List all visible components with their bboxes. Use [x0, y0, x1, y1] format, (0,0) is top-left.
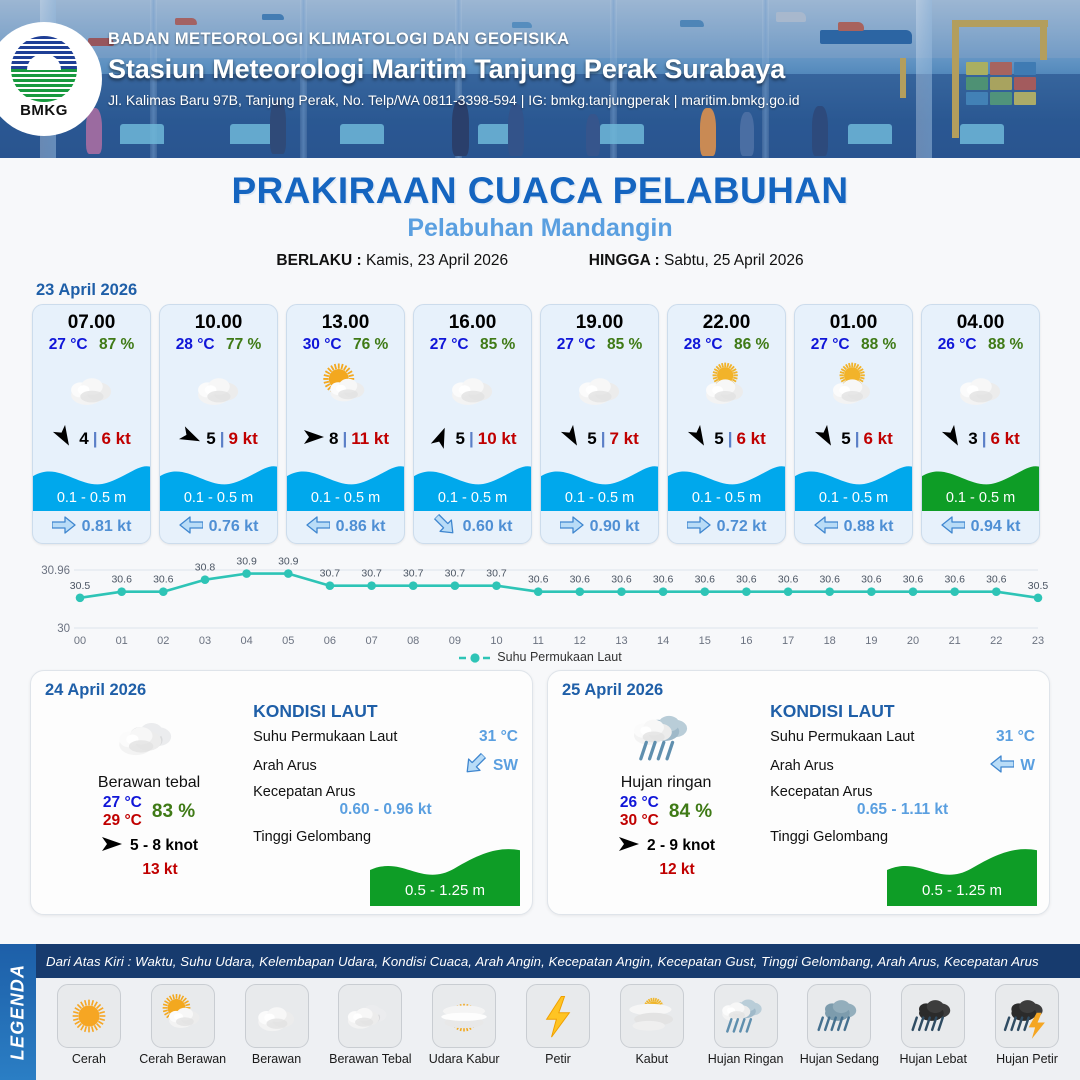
card-wind: 5 | 6 kt [795, 419, 912, 459]
svg-text:13: 13 [615, 635, 627, 647]
card-wave: 0.1 - 0.5 m [795, 459, 912, 511]
legend-icon-tile [995, 984, 1059, 1048]
validity-line: BERLAKU : Kamis, 23 April 2026 HINGGA : … [0, 252, 1080, 270]
current-direction-icon [941, 516, 965, 539]
card-wind: 5 | 10 kt [414, 419, 531, 459]
card-weather-icon [922, 357, 1039, 419]
current-speed: 0.72 kt [717, 518, 767, 536]
card-temp-humidity: 26 °C 88 % [922, 336, 1039, 357]
card-wind: 5 | 7 kt [541, 419, 658, 459]
wind-gust: 6 kt [736, 429, 765, 449]
sea-row: Arah Arus W [770, 755, 1035, 777]
daily-card: 24 April 2026 Berawan tebal 27 °C 29 °C [30, 670, 533, 915]
svg-text:30.6: 30.6 [986, 574, 1007, 586]
sea-row-label: Tinggi Gelombang [253, 829, 371, 845]
wind-gust: 6 kt [101, 429, 130, 449]
current-direction-icon [990, 755, 1014, 777]
seat-decoration [848, 124, 892, 144]
sea-row-label: Suhu Permukaan Laut [253, 729, 397, 745]
daily-humidity: 84 % [669, 801, 712, 823]
daily-condition: Berawan tebal [45, 774, 253, 792]
legend-item: Hujan Ringan [699, 984, 793, 1066]
legend-icon-tile [526, 984, 590, 1048]
svg-text:09: 09 [449, 635, 461, 647]
station-name: Stasiun Meteorologi Maritim Tanjung Pera… [108, 54, 800, 85]
current-direction-icon [52, 516, 76, 539]
wind-speed: 5 [714, 429, 723, 449]
wind-separator: | [93, 429, 98, 449]
svg-text:30.6: 30.6 [528, 574, 549, 586]
current-direction-icon [179, 516, 203, 539]
current-direction-icon [306, 516, 330, 539]
legend-label: Suhu Permukaan Laut [497, 650, 621, 664]
svg-text:06: 06 [324, 635, 336, 647]
legend-item-label: Cerah [42, 1052, 136, 1066]
current-direction-label: W [1020, 757, 1035, 775]
sea-row-label: Tinggi Gelombang [770, 829, 888, 845]
svg-text:30.7: 30.7 [445, 568, 466, 580]
wind-separator: | [342, 429, 347, 449]
card-temp-humidity: 27 °C 88 % [795, 336, 912, 357]
card-current: 0.94 kt [922, 511, 1039, 543]
current-speed: 0.81 kt [82, 518, 132, 536]
wind-gust: 11 kt [351, 429, 389, 449]
svg-text:30.7: 30.7 [403, 568, 424, 580]
wind-separator: | [220, 429, 225, 449]
sea-conditions-heading: KONDISI LAUT [770, 701, 1035, 722]
card-humidity: 77 % [226, 336, 261, 353]
daily-temp-high: 30 °C [620, 812, 659, 830]
wind-gust: 9 kt [228, 429, 257, 449]
wave-height: 0.1 - 0.5 m [33, 490, 150, 506]
hourly-forecast-row: 07.00 27 °C 87 % 4 | 6 kt 0.1 - 0.5 m [0, 304, 1080, 544]
daily-weather-icon [562, 702, 770, 774]
hourly-card: 04.00 26 °C 88 % 3 | 6 kt 0.1 - 0.5 m [921, 304, 1040, 544]
seat-decoration [600, 124, 644, 144]
agency-name: BADAN METEOROLOGI KLIMATOLOGI DAN GEOFIS… [108, 30, 800, 49]
svg-text:30.6: 30.6 [819, 574, 840, 586]
hourly-card: 13.00 30 °C 76 % 8 | 11 kt 0.1 - 0.5 m [286, 304, 405, 544]
sea-row: Kecepatan Arus 0.65 - 1.11 kt [770, 784, 1035, 819]
card-wind: 5 | 6 kt [668, 419, 785, 459]
svg-text:01: 01 [116, 635, 128, 647]
daily-wave-height: 0.5 - 1.25 m [887, 882, 1037, 899]
valid-from-label: BERLAKU : [276, 252, 361, 269]
sst-chart-legend: Suhu Permukaan Laut [0, 650, 1080, 664]
legend-tab-label: LEGENDA [8, 964, 29, 1060]
card-weather-icon [541, 357, 658, 419]
wind-gust: 6 kt [863, 429, 892, 449]
sea-row-value: 31 °C [479, 728, 518, 746]
sea-row-label: Kecepatan Arus [770, 784, 1035, 800]
card-humidity: 88 % [988, 336, 1023, 353]
wind-direction-icon [179, 426, 203, 453]
legend-icon-tile [807, 984, 871, 1048]
sea-row: Suhu Permukaan Laut 31 °C [770, 726, 1035, 748]
svg-text:30.6: 30.6 [861, 574, 882, 586]
svg-text:30.96: 30.96 [41, 565, 70, 577]
legend-icon-tile [432, 984, 496, 1048]
card-time: 16.00 [414, 305, 531, 336]
logo-label: BMKG [5, 102, 83, 119]
seat-decoration [120, 124, 164, 144]
daily-temp-low: 26 °C [620, 794, 659, 812]
wind-separator: | [469, 429, 474, 449]
card-wave: 0.1 - 0.5 m [668, 459, 785, 511]
card-time: 07.00 [33, 305, 150, 336]
current-direction-icon [463, 755, 487, 777]
card-wind: 5 | 9 kt [160, 419, 277, 459]
wave-height: 0.1 - 0.5 m [795, 490, 912, 506]
sea-row: Arah Arus SW [253, 755, 518, 777]
legend-item-label: Petir [511, 1052, 605, 1066]
wind-direction-icon [617, 833, 641, 860]
sea-row-value: 0.60 - 0.96 kt [253, 801, 518, 819]
card-wave: 0.1 - 0.5 m [33, 459, 150, 511]
card-weather-icon [414, 357, 531, 419]
svg-text:07: 07 [365, 635, 377, 647]
wave-height: 0.1 - 0.5 m [541, 490, 658, 506]
card-humidity: 85 % [480, 336, 515, 353]
wind-speed: 3 [968, 429, 977, 449]
wind-gust: 6 kt [990, 429, 1019, 449]
legend-item: Udara Kabur [417, 984, 511, 1066]
card-temp: 28 °C [176, 336, 215, 353]
daily-forecast-row: 24 April 2026 Berawan tebal 27 °C 29 °C [0, 664, 1080, 915]
sea-row-value: 31 °C [996, 728, 1035, 746]
svg-text:30.7: 30.7 [486, 568, 507, 580]
legend-item-label: Hujan Ringan [699, 1052, 793, 1066]
legend-item: Berawan [230, 984, 324, 1066]
sst-chart-plot: 30.963030.50030.60130.60230.80330.90430.… [28, 552, 1052, 648]
legend-item: Petir [511, 984, 605, 1066]
svg-text:18: 18 [824, 635, 836, 647]
wave-height: 0.1 - 0.5 m [922, 490, 1039, 506]
wind-speed: 5 [206, 429, 215, 449]
card-temp-humidity: 27 °C 87 % [33, 336, 150, 357]
wind-speed: 5 [456, 429, 465, 449]
current-speed: 0.76 kt [209, 518, 259, 536]
current-direction-icon [560, 516, 584, 539]
page-header: BMKG BADAN METEOROLOGI KLIMATOLOGI DAN G… [0, 0, 1080, 158]
legend-marker-icon [458, 652, 492, 664]
card-time: 13.00 [287, 305, 404, 336]
card-wave: 0.1 - 0.5 m [541, 459, 658, 511]
svg-text:30.7: 30.7 [361, 568, 382, 580]
legend-item-label: Hujan Petir [980, 1052, 1074, 1066]
card-wave: 0.1 - 0.5 m [414, 459, 531, 511]
legend-item: Hujan Lebat [886, 984, 980, 1066]
card-temp: 27 °C [557, 336, 596, 353]
person-decoration [586, 114, 600, 156]
svg-text:30.6: 30.6 [111, 574, 132, 586]
svg-text:11: 11 [532, 635, 543, 647]
wave-height: 0.1 - 0.5 m [287, 490, 404, 506]
card-time: 01.00 [795, 305, 912, 336]
daily-date: 25 April 2026 [562, 681, 770, 700]
card-time: 19.00 [541, 305, 658, 336]
card-weather-icon [33, 357, 150, 419]
sea-row-value: W [990, 755, 1035, 777]
card-wave: 0.1 - 0.5 m [287, 459, 404, 511]
current-speed: 0.90 kt [590, 518, 640, 536]
wind-speed: 5 [587, 429, 596, 449]
card-humidity: 76 % [353, 336, 388, 353]
card-humidity: 88 % [861, 336, 896, 353]
card-temp: 30 °C [303, 336, 342, 353]
wind-separator: | [855, 429, 860, 449]
wave-height: 0.1 - 0.5 m [414, 490, 531, 506]
wind-direction-icon [941, 426, 965, 453]
card-temp: 27 °C [49, 336, 88, 353]
legend-items: Cerah Cerah Berawan Berawan [36, 978, 1080, 1066]
svg-text:14: 14 [657, 635, 669, 647]
sea-conditions-heading: KONDISI LAUT [253, 701, 518, 722]
legend-note: Dari Atas Kiri : Waktu, Suhu Udara, Kele… [36, 944, 1080, 978]
svg-text:17: 17 [782, 635, 794, 647]
current-speed: 0.88 kt [844, 518, 894, 536]
card-wave: 0.1 - 0.5 m [922, 459, 1039, 511]
legend-item-label: Berawan Tebal [323, 1052, 417, 1066]
person-decoration [700, 108, 716, 156]
wind-gust: 10 kt [478, 429, 517, 449]
sea-row-label: Arah Arus [770, 758, 834, 774]
legend-item-label: Udara Kabur [417, 1052, 511, 1066]
card-current: 0.88 kt [795, 511, 912, 543]
daily-wave-height: 0.5 - 1.25 m [370, 882, 520, 899]
legend-icon-tile [245, 984, 309, 1048]
wind-gust: 7 kt [609, 429, 638, 449]
svg-text:22: 22 [990, 635, 1002, 647]
card-weather-icon [160, 357, 277, 419]
card-humidity: 85 % [607, 336, 642, 353]
card-temp: 27 °C [811, 336, 850, 353]
wind-speed: 4 [79, 429, 88, 449]
daily-temp-low: 27 °C [103, 794, 142, 812]
daily-date: 24 April 2026 [45, 681, 253, 700]
svg-text:21: 21 [949, 635, 961, 647]
svg-text:00: 00 [74, 635, 86, 647]
current-direction-label: SW [493, 757, 518, 775]
sea-row-label: Arah Arus [253, 758, 317, 774]
card-wind: 4 | 6 kt [33, 419, 150, 459]
daily-temps: 27 °C 29 °C 83 % [45, 794, 253, 830]
wind-direction-icon [100, 833, 124, 860]
daily-wind-range: 5 - 8 knot [130, 837, 198, 855]
daily-card: 25 April 2026 Hujan ringan 26 °C 30 °C [547, 670, 1050, 915]
daily-wave: 0.5 - 1.25 m [887, 844, 1037, 906]
card-time: 04.00 [922, 305, 1039, 336]
card-wind: 3 | 6 kt [922, 419, 1039, 459]
card-current: 0.76 kt [160, 511, 277, 543]
sea-row-label: Kecepatan Arus [253, 784, 518, 800]
wind-direction-icon [302, 426, 326, 453]
window-pillar [916, 0, 932, 158]
card-temp-humidity: 27 °C 85 % [414, 336, 531, 357]
card-weather-icon [287, 357, 404, 419]
legend-icon-tile [57, 984, 121, 1048]
card-current: 0.72 kt [668, 511, 785, 543]
svg-text:15: 15 [699, 635, 711, 647]
legend-item: Cerah [42, 984, 136, 1066]
svg-text:30.6: 30.6 [944, 574, 965, 586]
daily-wind: 2 - 9 knot [562, 833, 770, 860]
svg-text:30: 30 [57, 623, 70, 635]
current-speed: 0.86 kt [336, 518, 386, 536]
sst-chart: 30.963030.50030.60130.60230.80330.90430.… [28, 552, 1052, 648]
legend-item-label: Cerah Berawan [136, 1052, 230, 1066]
svg-text:10: 10 [490, 635, 502, 647]
legend-item-label: Kabut [605, 1052, 699, 1066]
daily-gust: 13 kt [45, 861, 253, 879]
station-address: Jl. Kalimas Baru 97B, Tanjung Perak, No.… [108, 92, 800, 108]
card-wave: 0.1 - 0.5 m [160, 459, 277, 511]
hourly-card: 10.00 28 °C 77 % 5 | 9 kt 0.1 - 0.5 m [159, 304, 278, 544]
svg-text:08: 08 [407, 635, 419, 647]
seat-decoration [340, 124, 384, 144]
daily-gust: 12 kt [562, 861, 770, 879]
daily-wind-range: 2 - 9 knot [647, 837, 715, 855]
card-weather-icon [795, 357, 912, 419]
legend-item-label: Hujan Sedang [793, 1052, 887, 1066]
wind-separator: | [601, 429, 606, 449]
hourly-card: 19.00 27 °C 85 % 5 | 7 kt 0.1 - 0.5 m [540, 304, 659, 544]
wind-separator: | [728, 429, 733, 449]
hourly-card: 22.00 28 °C 86 % 5 | 6 kt 0.1 - 0.5 m [667, 304, 786, 544]
svg-text:30.6: 30.6 [153, 574, 174, 586]
daily-condition: Hujan ringan [562, 774, 770, 792]
card-weather-icon [668, 357, 785, 419]
svg-text:02: 02 [157, 635, 169, 647]
legend-item: Berawan Tebal [323, 984, 417, 1066]
card-humidity: 86 % [734, 336, 769, 353]
legend-item-label: Hujan Lebat [886, 1052, 980, 1066]
svg-text:30.8: 30.8 [195, 562, 216, 574]
svg-text:03: 03 [199, 635, 211, 647]
valid-until-label: HINGGA : [589, 252, 660, 269]
card-current: 0.60 kt [414, 511, 531, 543]
sea-row-value: SW [463, 755, 518, 777]
daily-temps: 26 °C 30 °C 84 % [562, 794, 770, 830]
port-name: Pelabuhan Mandangin [0, 214, 1080, 243]
sea-row: Kecepatan Arus 0.60 - 0.96 kt [253, 784, 518, 819]
svg-text:20: 20 [907, 635, 919, 647]
hourly-card: 01.00 27 °C 88 % 5 | 6 kt 0.1 - 0.5 m [794, 304, 913, 544]
svg-text:30.6: 30.6 [653, 574, 674, 586]
sea-row: Suhu Permukaan Laut 31 °C [253, 726, 518, 748]
legend-icon-tile [620, 984, 684, 1048]
wind-direction-icon [429, 426, 453, 453]
valid-until-value: Sabtu, 25 April 2026 [664, 252, 804, 269]
legend-item: Hujan Sedang [793, 984, 887, 1066]
person-decoration [812, 106, 828, 156]
card-temp-humidity: 27 °C 85 % [541, 336, 658, 357]
svg-text:30.5: 30.5 [70, 580, 91, 592]
person-decoration [740, 112, 754, 156]
page-title: PRAKIRAAN CUACA PELABUHAN [0, 170, 1080, 212]
legend-tab: LEGENDA [0, 944, 36, 1080]
current-direction-icon [687, 516, 711, 539]
svg-text:12: 12 [574, 635, 586, 647]
wind-direction-icon [687, 426, 711, 453]
current-speed: 0.94 kt [971, 518, 1021, 536]
card-wind: 8 | 11 kt [287, 419, 404, 459]
card-current: 0.90 kt [541, 511, 658, 543]
svg-text:30.5: 30.5 [1028, 580, 1049, 592]
person-decoration [508, 104, 524, 156]
card-temp-humidity: 30 °C 76 % [287, 336, 404, 357]
svg-text:30.9: 30.9 [236, 556, 257, 568]
card-humidity: 87 % [99, 336, 134, 353]
svg-text:30.6: 30.6 [611, 574, 632, 586]
legend-item-label: Berawan [230, 1052, 324, 1066]
wind-separator: | [982, 429, 987, 449]
card-time: 10.00 [160, 305, 277, 336]
wind-direction-icon [52, 426, 76, 453]
wind-direction-icon [814, 426, 838, 453]
svg-text:30.6: 30.6 [903, 574, 924, 586]
svg-text:30.7: 30.7 [320, 568, 341, 580]
seat-decoration [230, 124, 274, 144]
daily-wave: 0.5 - 1.25 m [370, 844, 520, 906]
person-decoration [270, 100, 286, 154]
legend-item: Cerah Berawan [136, 984, 230, 1066]
hourly-card: 16.00 27 °C 85 % 5 | 10 kt 0.1 - 0.5 m [413, 304, 532, 544]
card-current: 0.86 kt [287, 511, 404, 543]
legend-item: Kabut [605, 984, 699, 1066]
legend-icon-tile [901, 984, 965, 1048]
legend-icon-tile [151, 984, 215, 1048]
card-temp-humidity: 28 °C 86 % [668, 336, 785, 357]
title-block: PRAKIRAAN CUACA PELABUHAN Pelabuhan Mand… [0, 170, 1080, 270]
svg-text:30.6: 30.6 [695, 574, 716, 586]
day1-date-label: 23 April 2026 [36, 281, 1080, 300]
svg-text:30.6: 30.6 [778, 574, 799, 586]
logo-emblem [11, 36, 77, 102]
seat-decoration [960, 124, 1004, 144]
svg-text:05: 05 [282, 635, 294, 647]
hourly-card: 07.00 27 °C 87 % 4 | 6 kt 0.1 - 0.5 m [32, 304, 151, 544]
daily-temp-high: 29 °C [103, 812, 142, 830]
legend-item: Hujan Petir [980, 984, 1074, 1066]
wind-speed: 5 [841, 429, 850, 449]
sea-row-label: Suhu Permukaan Laut [770, 729, 914, 745]
wave-height: 0.1 - 0.5 m [668, 490, 785, 506]
card-temp: 28 °C [684, 336, 723, 353]
card-temp: 27 °C [430, 336, 469, 353]
wind-speed: 8 [329, 429, 338, 449]
svg-text:19: 19 [865, 635, 877, 647]
current-direction-icon [433, 516, 457, 539]
legend-icon-tile [338, 984, 402, 1048]
svg-text:16: 16 [740, 635, 752, 647]
wave-height: 0.1 - 0.5 m [160, 490, 277, 506]
wind-direction-icon [560, 426, 584, 453]
card-time: 22.00 [668, 305, 785, 336]
legend-bar: LEGENDA Dari Atas Kiri : Waktu, Suhu Uda… [0, 944, 1080, 1080]
card-temp-humidity: 28 °C 77 % [160, 336, 277, 357]
svg-text:30.6: 30.6 [736, 574, 757, 586]
daily-weather-icon [45, 702, 253, 774]
legend-icon-tile [714, 984, 778, 1048]
daily-wind: 5 - 8 knot [45, 833, 253, 860]
svg-text:04: 04 [240, 635, 252, 647]
svg-text:23: 23 [1032, 635, 1044, 647]
current-direction-icon [814, 516, 838, 539]
sea-row-value: 0.65 - 1.11 kt [770, 801, 1035, 819]
person-decoration [452, 100, 469, 156]
daily-humidity: 83 % [152, 801, 195, 823]
